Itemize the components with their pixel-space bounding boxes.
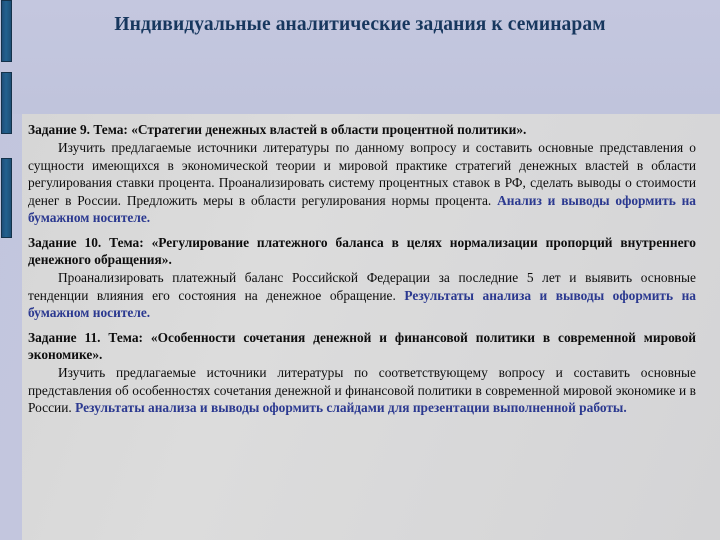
task-body-11-highlight: Результаты анализа и выводы оформить сла…	[75, 400, 627, 415]
accent-bar-1	[1, 0, 12, 62]
task-heading-11: Задание 11. Тема: «Особенности сочетания…	[28, 329, 696, 364]
accent-bar-2	[1, 72, 12, 134]
task-body-9: Изучить предлагаемые источники литератур…	[28, 139, 696, 226]
presentation-slide: Индивидуальные аналитические задания к с…	[0, 0, 720, 540]
task-body-11: Изучить предлагаемые источники литератур…	[28, 364, 696, 416]
slide-title: Индивидуальные аналитические задания к с…	[60, 12, 660, 38]
task-heading-9: Задание 9. Тема: «Стратегии денежных вла…	[28, 121, 696, 138]
accent-bar-3	[1, 158, 12, 238]
slide-body: Задание 9. Тема: «Стратегии денежных вла…	[28, 121, 696, 419]
task-heading-10: Задание 10. Тема: «Регулирование платежн…	[28, 234, 696, 269]
task-body-10: Проанализировать платежный баланс Россий…	[28, 269, 696, 321]
